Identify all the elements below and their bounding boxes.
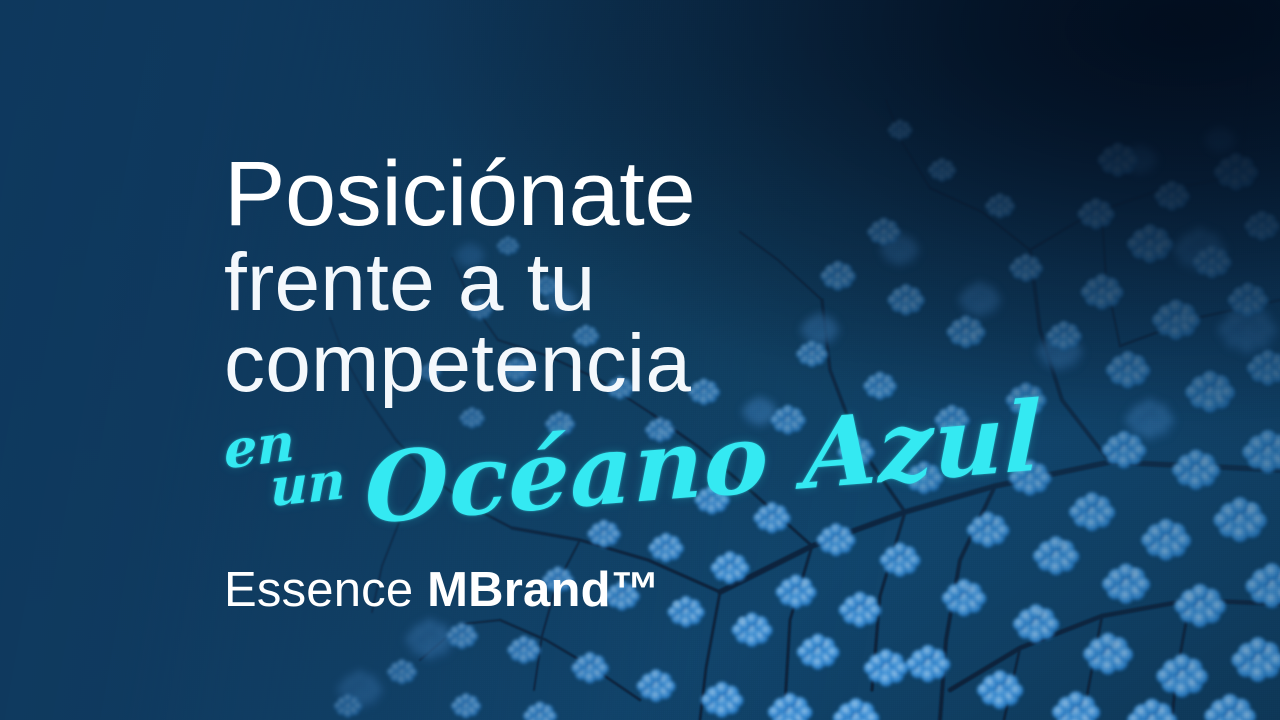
- copy-block: Posiciónate frente a tu competencia en u…: [224, 150, 1104, 615]
- brand-name-bold: MBrand™: [427, 563, 660, 617]
- script-accent-line: en un Océano Azul: [224, 400, 1104, 526]
- slide-canvas: Posiciónate frente a tu competencia en u…: [0, 0, 1280, 720]
- script-word-un: un: [270, 450, 345, 519]
- headline: Posiciónate: [224, 150, 1104, 238]
- subheadline-line-1: frente a tu: [224, 244, 1104, 323]
- brand-name-light: Essence: [224, 563, 427, 617]
- script-phrase-oceano-azul: Océano Azul: [365, 379, 1043, 546]
- brand-lockup: Essence MBrand™: [224, 526, 1104, 615]
